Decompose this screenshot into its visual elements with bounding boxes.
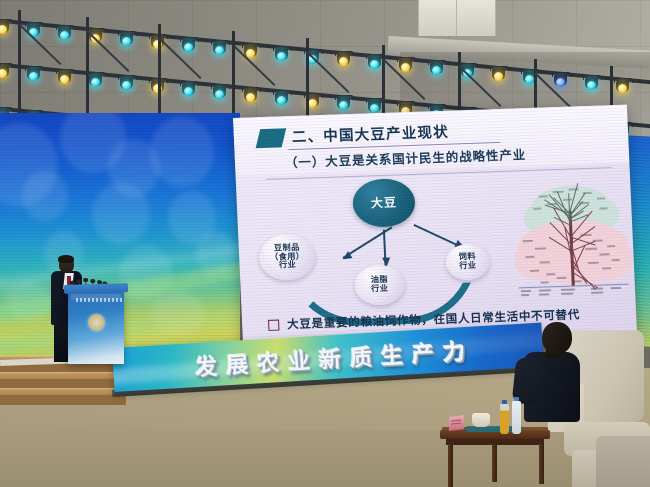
stage-light-fixture <box>336 54 351 67</box>
stage-light-fixture <box>491 69 506 82</box>
stage-light-fixture <box>584 78 599 91</box>
stage-light-fixture <box>398 60 413 73</box>
podium-top-surface <box>64 283 128 294</box>
guest-name-card <box>449 415 464 431</box>
conference-stage-scene: 二、中国大豆产业现状 （一）大豆是关系国计民生的战略性产业 大豆 豆制品（食用）… <box>0 0 650 487</box>
stage-light-fixture <box>243 90 258 103</box>
stage-light-fixture <box>274 49 289 62</box>
podium-emblem-icon <box>88 314 105 331</box>
projector-scanlines <box>233 105 637 348</box>
stage-light-fixture <box>119 34 134 47</box>
stage-light-fixture <box>119 78 134 91</box>
speaking-podium <box>68 290 124 364</box>
stage-light-fixture <box>553 75 568 88</box>
tea-bottle <box>500 404 509 434</box>
stage-light-fixture <box>212 43 227 56</box>
stage-light-fixture <box>0 66 10 79</box>
tea-cup <box>472 413 490 427</box>
side-table <box>440 418 550 487</box>
foreground-chair-corner <box>596 436 650 487</box>
water-bottle <box>512 401 521 434</box>
stage-light-fixture <box>57 28 72 41</box>
projected-presentation-slide: 二、中国大豆产业现状 （一）大豆是关系国计民生的战略性产业 大豆 豆制品（食用）… <box>233 105 637 348</box>
stage-light-fixture <box>274 93 289 106</box>
stage-light-fixture <box>181 40 196 53</box>
seated-guest <box>520 322 586 430</box>
stage-light-fixture <box>57 72 72 85</box>
stage-light-fixture <box>367 57 382 70</box>
stage-light-fixture <box>212 87 227 100</box>
stage-light-fixture <box>336 98 351 111</box>
stage-light-fixture <box>88 75 103 88</box>
stage-light-fixture <box>181 84 196 97</box>
stage-light-fixture <box>429 63 444 76</box>
podium-text-band <box>71 294 121 300</box>
stage-light-fixture <box>0 22 10 35</box>
stage-light-fixture <box>26 69 41 82</box>
stage-light-fixture <box>615 81 630 94</box>
